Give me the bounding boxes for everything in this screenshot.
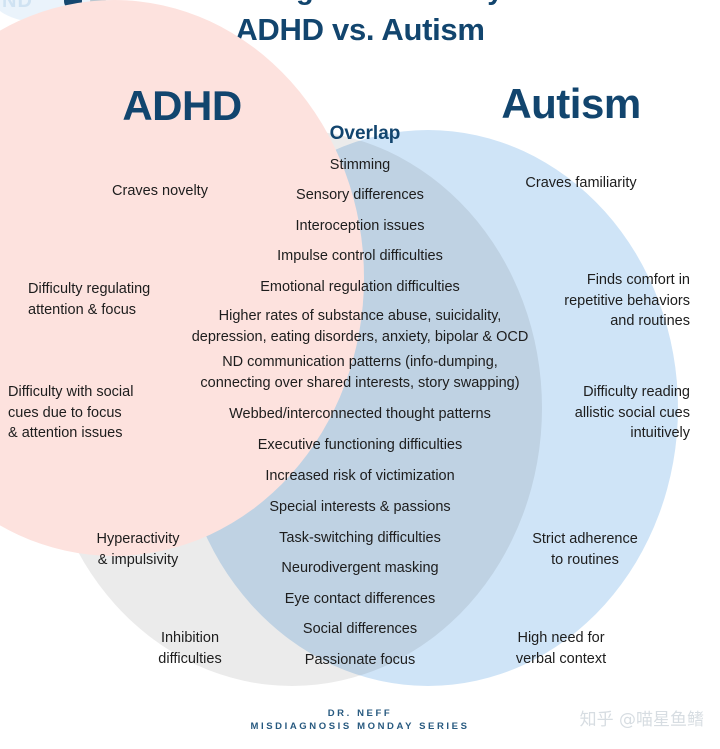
overlap-item-8: Executive functioning difficulties [160, 435, 560, 456]
overlap-item-4: Emotional regulation difficulties [160, 277, 560, 298]
overlap-item-1: Sensory differences [160, 185, 560, 206]
overlap-item-5: Higher rates of substance abuse, suicida… [140, 306, 580, 347]
overlap-item-7: Webbed/interconnected thought patterns [160, 404, 560, 425]
watermark: 知乎 @喵星鱼鳍 [580, 705, 704, 730]
overlap-item-13: Eye contact differences [160, 589, 560, 610]
venn-label-overlap: Overlap [290, 123, 440, 145]
overlap-item-11: Task-switching difficulties [160, 528, 560, 549]
overlap-item-3: Impulse control difficulties [160, 246, 560, 267]
venn-diagram: ADHD Autism Overlap Craves novelty Diffi… [0, 0, 720, 749]
venn-label-adhd: ADHD [62, 82, 302, 130]
venn-label-autism: Autism [446, 80, 696, 128]
overlap-item-10: Special interests & passions [160, 497, 560, 518]
overlap-item-15: Passionate focus [160, 650, 560, 671]
overlap-item-9: Increased risk of victimization [160, 466, 560, 487]
overlap-item-14: Social differences [160, 619, 560, 640]
overlap-item-6: ND communication patterns (info-dumping,… [150, 352, 570, 393]
overlap-item-2: Interoception issues [160, 216, 560, 237]
infographic-canvas: ND Misdiagnosis Monday: ADHD vs. Autism … [0, 0, 720, 749]
overlap-item-0: Stimming [160, 155, 560, 176]
overlap-item-12: Neurodivergent masking [160, 558, 560, 579]
